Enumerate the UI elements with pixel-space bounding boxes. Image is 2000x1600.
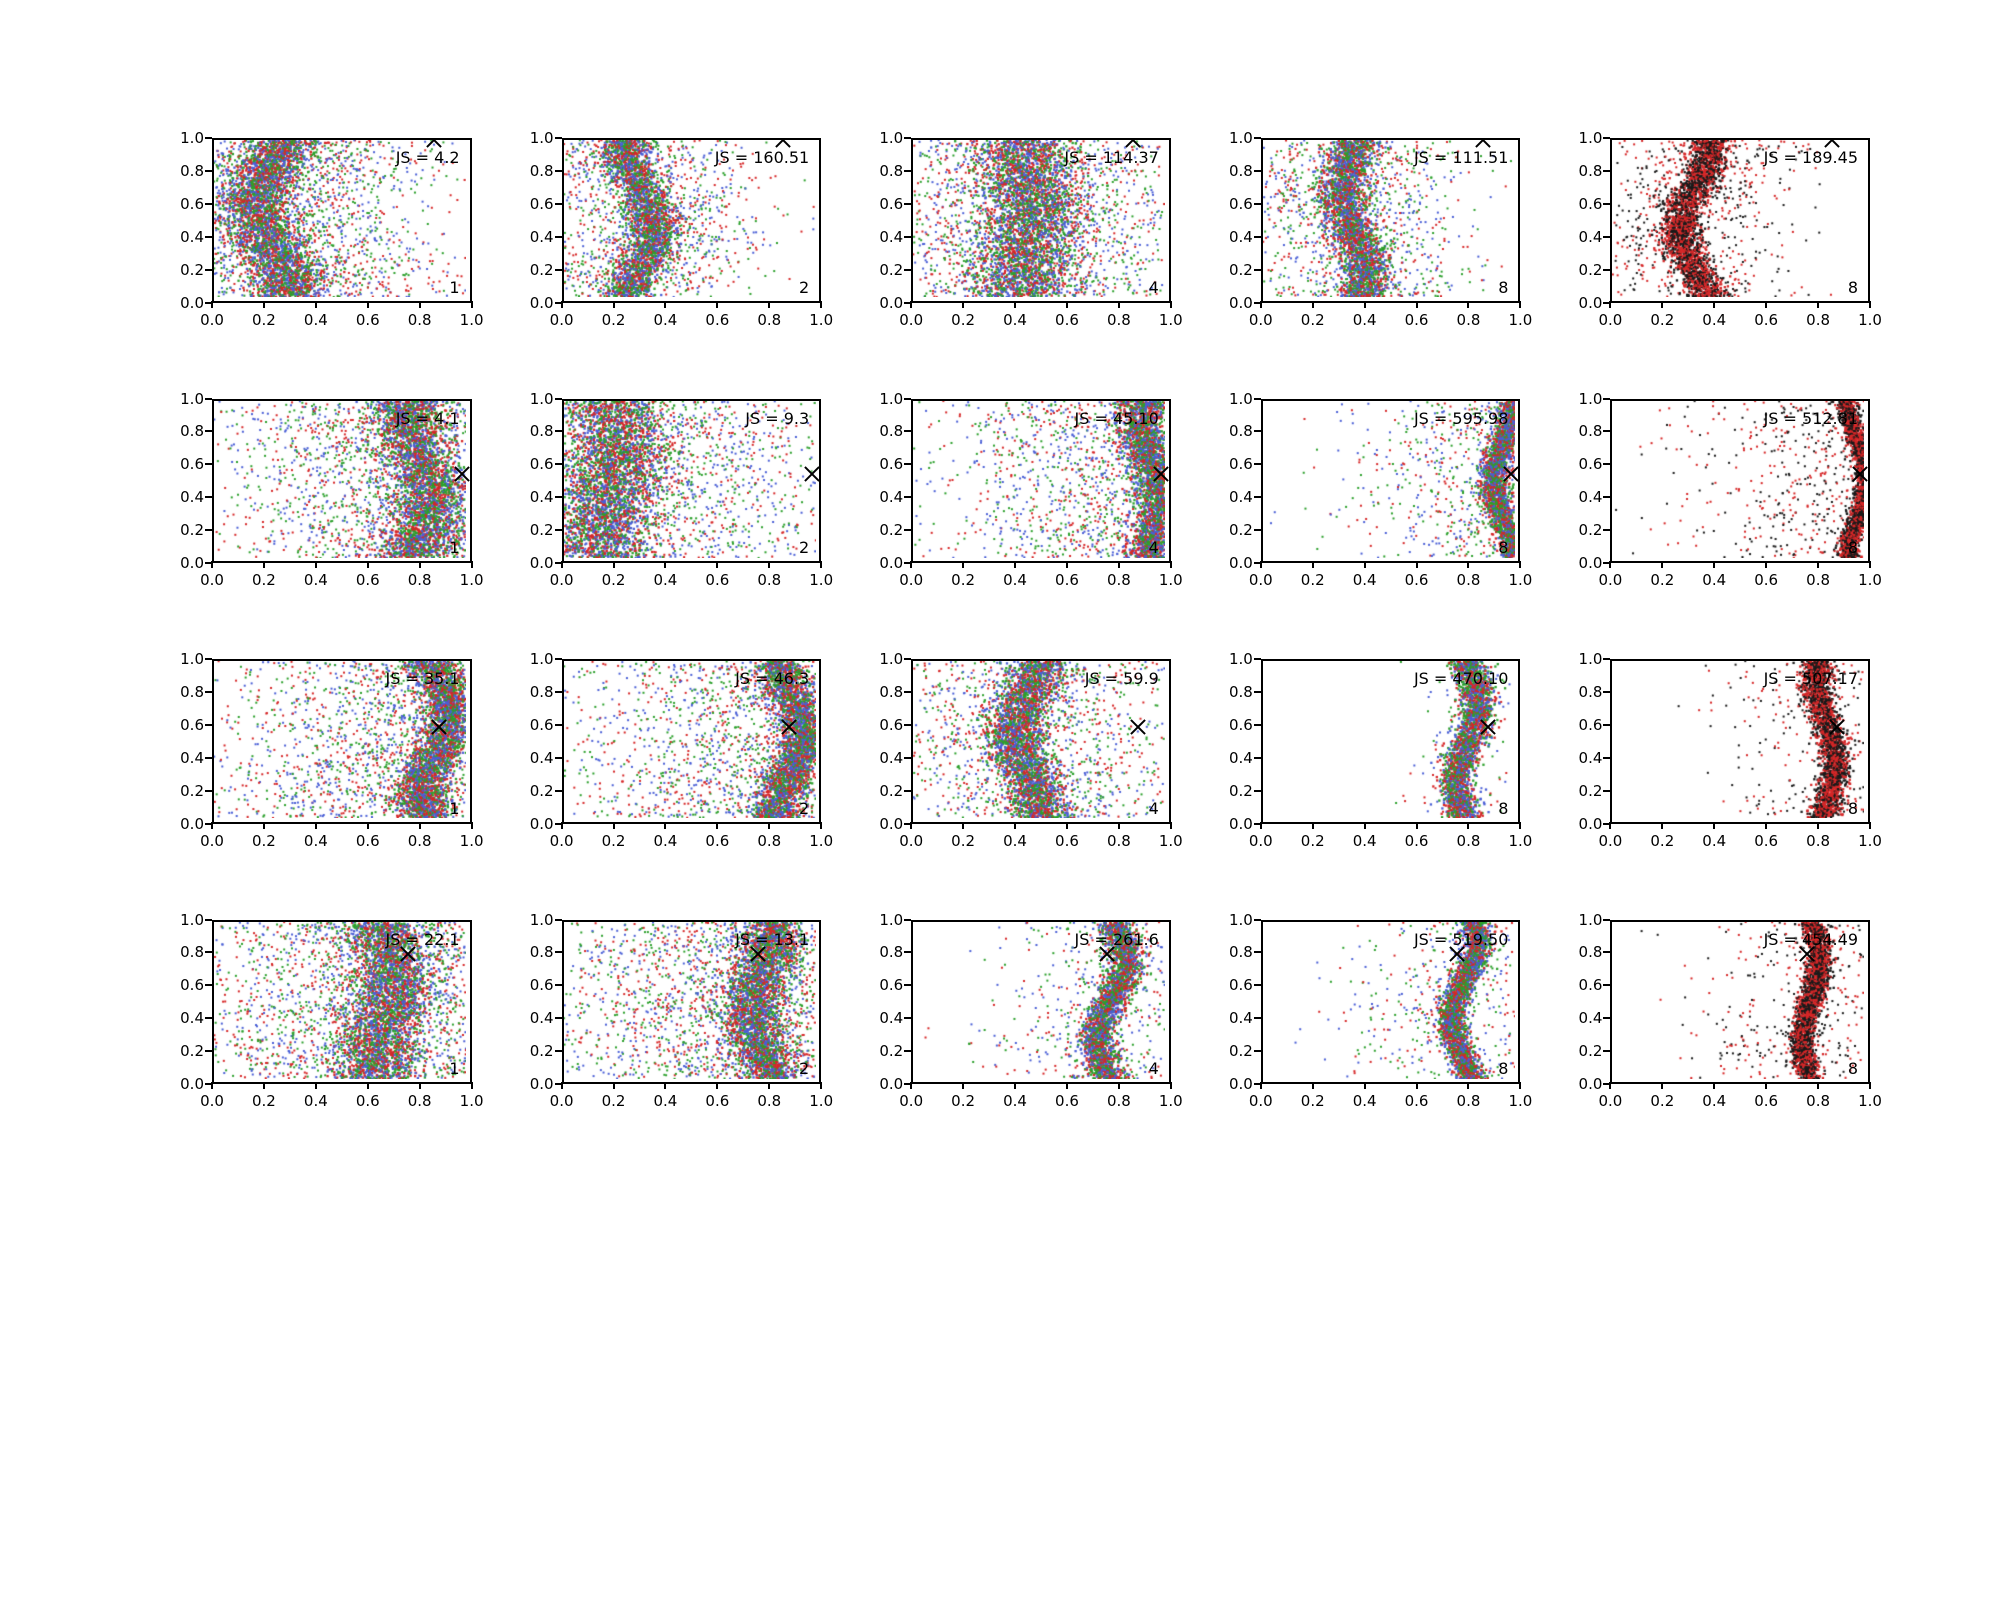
js-value-label: JS = 114.37 xyxy=(1064,148,1158,167)
y-tick-label: 0.4 xyxy=(530,1009,554,1027)
x-axis: 0.00.20.40.60.81.0 xyxy=(911,563,1171,593)
y-tick-mark xyxy=(1603,430,1610,432)
y-tick-mark xyxy=(1603,203,1610,205)
x-tick-label: 0.8 xyxy=(757,1092,781,1110)
x-tick-label: 0.4 xyxy=(1353,832,1377,850)
y-tick-mark xyxy=(1603,1017,1610,1019)
x-tick-label: 0.8 xyxy=(1457,311,1481,329)
x-tick-label: 0.0 xyxy=(1598,571,1622,589)
target-x-marker xyxy=(802,464,822,484)
target-x-marker xyxy=(429,717,449,737)
x-tick-label: 0.0 xyxy=(1249,1092,1273,1110)
scatter-panel[interactable]: JS = 4.21 xyxy=(212,138,472,303)
x-tick-label: 1.0 xyxy=(460,571,484,589)
x-tick-label: 0.6 xyxy=(356,1092,380,1110)
x-tick-label: 0.6 xyxy=(1055,1092,1079,1110)
x-tick-label: 0.8 xyxy=(1457,1092,1481,1110)
js-value-label: JS = 4.1 xyxy=(396,409,460,428)
y-axis: 0.00.20.40.60.81.0 xyxy=(1568,399,1610,564)
y-tick-mark xyxy=(1603,658,1610,660)
y-tick-mark xyxy=(904,137,911,139)
x-tick-label: 0.6 xyxy=(1055,571,1079,589)
y-axis: 0.00.20.40.60.81.0 xyxy=(869,659,911,824)
subplot-cell: 0.00.20.40.60.81.00.00.20.40.60.81.0JS =… xyxy=(520,138,822,357)
subplot-cell: 0.00.20.40.60.81.00.00.20.40.60.81.0JS =… xyxy=(1219,920,1521,1139)
subplot-cell: 0.00.20.40.60.81.00.00.20.40.60.81.0JS =… xyxy=(170,659,472,878)
x-axis: 0.00.20.40.60.81.0 xyxy=(212,824,472,854)
x-tick-label: 0.2 xyxy=(602,571,626,589)
y-axis: 0.00.20.40.60.81.0 xyxy=(520,920,562,1085)
y-tick-mark xyxy=(1603,398,1610,400)
y-tick-label: 1.0 xyxy=(1229,129,1253,147)
scatter-panel[interactable]: JS = 35.11 xyxy=(212,659,472,824)
x-tick-label: 0.0 xyxy=(1598,1092,1622,1110)
y-tick-mark xyxy=(904,170,911,172)
y-tick-label: 0.2 xyxy=(530,1042,554,1060)
y-tick-label: 0.0 xyxy=(879,815,903,833)
y-tick-label: 0.0 xyxy=(1229,815,1253,833)
y-tick-label: 0.8 xyxy=(1229,943,1253,961)
x-tick-label: 0.4 xyxy=(1702,571,1726,589)
y-tick-label: 0.6 xyxy=(879,455,903,473)
x-axis: 0.00.20.40.60.81.0 xyxy=(1261,824,1521,854)
y-tick-mark xyxy=(1254,951,1261,953)
y-tick-label: 0.4 xyxy=(530,488,554,506)
x-axis: 0.00.20.40.60.81.0 xyxy=(911,303,1171,333)
y-tick-label: 1.0 xyxy=(1579,390,1603,408)
target-x-marker xyxy=(398,944,418,964)
y-tick-mark xyxy=(205,529,212,531)
y-axis: 0.00.20.40.60.81.0 xyxy=(170,399,212,564)
target-x-marker xyxy=(779,717,799,737)
y-tick-label: 0.8 xyxy=(180,162,204,180)
y-tick-mark xyxy=(904,529,911,531)
x-tick-label: 1.0 xyxy=(1508,311,1532,329)
y-tick-mark xyxy=(1254,269,1261,271)
x-tick-label: 0.2 xyxy=(1650,832,1674,850)
x-tick-label: 0.0 xyxy=(550,1092,574,1110)
x-tick-label: 0.6 xyxy=(356,832,380,850)
x-tick-label: 0.4 xyxy=(1003,311,1027,329)
y-tick-mark xyxy=(205,398,212,400)
y-tick-label: 1.0 xyxy=(1579,911,1603,929)
subplot-cell: 0.00.20.40.60.81.00.00.20.40.60.81.0JS =… xyxy=(1568,399,1870,618)
scatter-panel[interactable]: JS = 59.94 xyxy=(911,659,1171,824)
y-tick-mark xyxy=(1254,430,1261,432)
x-tick-label: 0.6 xyxy=(1754,832,1778,850)
y-tick-mark xyxy=(904,430,911,432)
x-tick-label: 0.4 xyxy=(653,311,677,329)
x-tick-label: 0.8 xyxy=(1107,571,1131,589)
y-tick-label: 0.8 xyxy=(879,162,903,180)
y-tick-mark xyxy=(904,757,911,759)
scatter-panel[interactable]: JS = 114.374 xyxy=(911,138,1171,303)
x-tick-label: 0.2 xyxy=(1301,832,1325,850)
x-tick-label: 0.6 xyxy=(1754,1092,1778,1110)
y-axis: 0.00.20.40.60.81.0 xyxy=(170,138,212,303)
x-tick-label: 0.6 xyxy=(1754,571,1778,589)
y-tick-label: 0.4 xyxy=(879,488,903,506)
x-tick-label: 0.2 xyxy=(602,832,626,850)
y-tick-label: 0.8 xyxy=(180,683,204,701)
y-axis: 0.00.20.40.60.81.0 xyxy=(1219,138,1261,303)
y-tick-label: 0.8 xyxy=(1229,162,1253,180)
y-tick-mark xyxy=(1603,170,1610,172)
y-tick-label: 0.8 xyxy=(879,943,903,961)
y-tick-mark xyxy=(555,398,562,400)
y-tick-label: 0.2 xyxy=(879,261,903,279)
y-tick-mark xyxy=(1254,1050,1261,1052)
y-tick-label: 0.2 xyxy=(1229,521,1253,539)
scatter-panel[interactable]: JS = 507.178 xyxy=(1610,659,1870,824)
target-x-marker xyxy=(773,138,793,150)
y-tick-mark xyxy=(904,236,911,238)
y-tick-label: 0.4 xyxy=(879,228,903,246)
y-axis: 0.00.20.40.60.81.0 xyxy=(1219,659,1261,824)
x-tick-label: 1.0 xyxy=(460,311,484,329)
x-tick-label: 0.2 xyxy=(252,1092,276,1110)
scatter-panel[interactable]: JS = 13.12 xyxy=(562,920,822,1085)
x-axis: 0.00.20.40.60.81.0 xyxy=(1610,824,1870,854)
y-axis: 0.00.20.40.60.81.0 xyxy=(1568,659,1610,824)
x-tick-label: 0.4 xyxy=(1702,311,1726,329)
subplot-cell: 0.00.20.40.60.81.00.00.20.40.60.81.0JS =… xyxy=(869,920,1171,1139)
x-tick-label: 0.0 xyxy=(899,571,923,589)
scatter-panel[interactable]: JS = 454.498 xyxy=(1610,920,1870,1085)
x-tick-label: 0.4 xyxy=(1702,832,1726,850)
target-x-marker xyxy=(1447,944,1467,964)
js-value-label: JS = 160.51 xyxy=(715,148,809,167)
y-axis: 0.00.20.40.60.81.0 xyxy=(1219,920,1261,1085)
scatter-panel[interactable]: JS = 9.32 xyxy=(562,399,822,564)
target-x-marker xyxy=(1097,944,1117,964)
x-tick-label: 0.4 xyxy=(653,832,677,850)
x-tick-label: 0.8 xyxy=(757,571,781,589)
target-x-marker xyxy=(1473,138,1493,150)
y-tick-label: 0.0 xyxy=(530,554,554,572)
x-tick-label: 0.0 xyxy=(899,311,923,329)
x-tick-label: 0.0 xyxy=(200,1092,224,1110)
y-tick-label: 0.6 xyxy=(530,976,554,994)
y-tick-mark xyxy=(1603,496,1610,498)
y-tick-label: 0.2 xyxy=(1579,521,1603,539)
x-axis: 0.00.20.40.60.81.0 xyxy=(212,1084,472,1114)
target-x-marker xyxy=(1478,717,1498,737)
y-tick-label: 0.2 xyxy=(879,782,903,800)
x-tick-label: 1.0 xyxy=(809,832,833,850)
y-tick-label: 0.0 xyxy=(879,1075,903,1093)
x-tick-label: 1.0 xyxy=(1159,311,1183,329)
y-tick-label: 0.4 xyxy=(1229,488,1253,506)
x-tick-label: 0.2 xyxy=(1650,571,1674,589)
y-tick-mark xyxy=(904,398,911,400)
x-tick-label: 0.4 xyxy=(1353,311,1377,329)
scatter-panel[interactable]: JS = 519.508 xyxy=(1261,920,1521,1085)
x-tick-label: 0.0 xyxy=(899,832,923,850)
scatter-panel[interactable]: JS = 595.988 xyxy=(1261,399,1521,564)
y-tick-mark xyxy=(555,1017,562,1019)
subplot-cell: 0.00.20.40.60.81.00.00.20.40.60.81.0JS =… xyxy=(1568,138,1870,357)
panel-index-label: 2 xyxy=(799,799,809,818)
y-tick-mark xyxy=(904,790,911,792)
x-tick-label: 0.8 xyxy=(1806,832,1830,850)
x-tick-label: 0.6 xyxy=(705,571,729,589)
panel-index-label: 8 xyxy=(1848,278,1858,297)
y-tick-mark xyxy=(205,1050,212,1052)
y-tick-mark xyxy=(205,269,212,271)
y-tick-mark xyxy=(205,790,212,792)
target-x-marker xyxy=(1128,717,1148,737)
x-axis: 0.00.20.40.60.81.0 xyxy=(212,303,472,333)
y-tick-label: 0.4 xyxy=(180,1009,204,1027)
x-axis: 0.00.20.40.60.81.0 xyxy=(562,1084,822,1114)
x-axis: 0.00.20.40.60.81.0 xyxy=(911,1084,1171,1114)
y-tick-label: 1.0 xyxy=(879,911,903,929)
y-tick-label: 0.0 xyxy=(879,554,903,572)
y-tick-label: 0.0 xyxy=(1579,294,1603,312)
x-axis: 0.00.20.40.60.81.0 xyxy=(562,303,822,333)
x-tick-label: 0.0 xyxy=(550,832,574,850)
y-tick-label: 0.2 xyxy=(180,261,204,279)
y-tick-label: 1.0 xyxy=(1579,129,1603,147)
scatter-panel[interactable]: JS = 160.512 xyxy=(562,138,822,303)
y-tick-mark xyxy=(1254,170,1261,172)
x-tick-label: 1.0 xyxy=(809,311,833,329)
x-tick-label: 1.0 xyxy=(809,571,833,589)
scatter-panel[interactable]: JS = 189.458 xyxy=(1610,138,1870,303)
y-tick-mark xyxy=(555,984,562,986)
y-tick-label: 0.4 xyxy=(879,1009,903,1027)
y-tick-label: 0.0 xyxy=(180,815,204,833)
panel-index-label: 8 xyxy=(1848,538,1858,557)
js-value-label: JS = 470.10 xyxy=(1414,669,1508,688)
y-tick-mark xyxy=(1254,203,1261,205)
panel-index-label: 8 xyxy=(1848,1059,1858,1078)
x-axis: 0.00.20.40.60.81.0 xyxy=(1261,563,1521,593)
y-tick-label: 0.2 xyxy=(1229,261,1253,279)
y-axis: 0.00.20.40.60.81.0 xyxy=(520,138,562,303)
y-tick-label: 0.4 xyxy=(530,228,554,246)
target-x-marker xyxy=(748,944,768,964)
y-tick-label: 0.8 xyxy=(1579,162,1603,180)
y-tick-label: 0.2 xyxy=(180,521,204,539)
x-tick-label: 0.8 xyxy=(1806,311,1830,329)
subplot-cell: 0.00.20.40.60.81.00.00.20.40.60.81.0JS =… xyxy=(520,399,822,618)
x-tick-label: 0.4 xyxy=(653,571,677,589)
x-tick-label: 1.0 xyxy=(1508,571,1532,589)
y-tick-mark xyxy=(205,430,212,432)
x-tick-label: 0.4 xyxy=(1353,571,1377,589)
x-tick-label: 1.0 xyxy=(460,1092,484,1110)
x-tick-label: 0.4 xyxy=(1003,1092,1027,1110)
y-tick-label: 0.0 xyxy=(1229,294,1253,312)
x-tick-label: 0.2 xyxy=(602,311,626,329)
x-tick-label: 0.8 xyxy=(408,571,432,589)
y-tick-label: 0.6 xyxy=(530,195,554,213)
panel-index-label: 8 xyxy=(1498,538,1508,557)
y-tick-label: 0.2 xyxy=(180,782,204,800)
x-tick-label: 0.4 xyxy=(1003,832,1027,850)
x-tick-label: 0.8 xyxy=(1107,311,1131,329)
y-tick-label: 1.0 xyxy=(1229,650,1253,668)
y-tick-mark xyxy=(1254,1017,1261,1019)
y-tick-label: 0.8 xyxy=(530,422,554,440)
y-axis: 0.00.20.40.60.81.0 xyxy=(1568,920,1610,1085)
x-tick-label: 0.6 xyxy=(705,1092,729,1110)
x-tick-label: 0.2 xyxy=(252,571,276,589)
y-tick-label: 0.6 xyxy=(180,976,204,994)
y-tick-label: 0.8 xyxy=(879,422,903,440)
subplot-cell: 0.00.20.40.60.81.00.00.20.40.60.81.0JS =… xyxy=(869,659,1171,878)
y-tick-label: 0.4 xyxy=(180,228,204,246)
y-tick-label: 0.8 xyxy=(180,422,204,440)
x-tick-label: 1.0 xyxy=(1159,571,1183,589)
y-tick-label: 0.0 xyxy=(1229,554,1253,572)
x-tick-label: 1.0 xyxy=(1159,1092,1183,1110)
subplot-cell: 0.00.20.40.60.81.00.00.20.40.60.81.0JS =… xyxy=(520,920,822,1139)
y-tick-label: 0.4 xyxy=(1229,1009,1253,1027)
y-tick-mark xyxy=(1603,236,1610,238)
x-tick-label: 1.0 xyxy=(1858,571,1882,589)
y-tick-label: 0.0 xyxy=(879,294,903,312)
js-value-label: JS = 45.10 xyxy=(1075,409,1159,428)
subplot-cell: 0.00.20.40.60.81.00.00.20.40.60.81.0JS =… xyxy=(869,399,1171,618)
js-value-label: JS = 111.51 xyxy=(1414,148,1508,167)
subplot-grid: 0.00.20.40.60.81.00.00.20.40.60.81.0JS =… xyxy=(170,138,1870,1138)
y-tick-label: 0.6 xyxy=(1579,716,1603,734)
x-tick-label: 0.2 xyxy=(252,832,276,850)
scatter-panel[interactable]: JS = 22.11 xyxy=(212,920,472,1085)
y-tick-label: 0.8 xyxy=(1579,683,1603,701)
y-tick-mark xyxy=(1603,790,1610,792)
js-value-label: JS = 13.1 xyxy=(735,930,809,949)
x-axis: 0.00.20.40.60.81.0 xyxy=(911,824,1171,854)
x-tick-label: 0.8 xyxy=(1806,1092,1830,1110)
js-value-label: JS = 9.3 xyxy=(745,409,809,428)
scatter-panel[interactable]: JS = 46.32 xyxy=(562,659,822,824)
y-tick-label: 0.8 xyxy=(1579,943,1603,961)
x-tick-label: 0.6 xyxy=(1754,311,1778,329)
js-value-label: JS = 189.45 xyxy=(1764,148,1858,167)
x-tick-label: 0.6 xyxy=(1405,311,1429,329)
scatter-panel[interactable]: JS = 470.108 xyxy=(1261,659,1521,824)
target-x-marker xyxy=(452,464,472,484)
scatter-panel[interactable]: JS = 111.518 xyxy=(1261,138,1521,303)
y-tick-label: 0.2 xyxy=(530,782,554,800)
y-tick-mark xyxy=(904,691,911,693)
y-tick-mark xyxy=(205,463,212,465)
y-tick-label: 0.0 xyxy=(180,1075,204,1093)
y-axis: 0.00.20.40.60.81.0 xyxy=(1568,138,1610,303)
scatter-panel[interactable]: JS = 4.11 xyxy=(212,399,472,564)
target-x-marker xyxy=(1501,464,1521,484)
y-tick-label: 0.6 xyxy=(180,716,204,734)
y-tick-mark xyxy=(205,496,212,498)
y-tick-label: 0.0 xyxy=(1579,815,1603,833)
y-tick-mark xyxy=(555,757,562,759)
y-tick-label: 0.6 xyxy=(180,455,204,473)
x-tick-label: 0.8 xyxy=(757,832,781,850)
x-tick-label: 0.8 xyxy=(408,311,432,329)
x-tick-label: 1.0 xyxy=(1858,832,1882,850)
y-tick-mark xyxy=(904,203,911,205)
y-tick-label: 0.8 xyxy=(180,943,204,961)
x-tick-label: 1.0 xyxy=(460,832,484,850)
y-tick-mark xyxy=(1603,463,1610,465)
y-tick-label: 0.4 xyxy=(1579,488,1603,506)
y-tick-label: 0.0 xyxy=(1579,554,1603,572)
x-tick-label: 0.2 xyxy=(951,571,975,589)
x-tick-label: 0.4 xyxy=(304,1092,328,1110)
subplot-cell: 0.00.20.40.60.81.00.00.20.40.60.81.0JS =… xyxy=(1568,920,1870,1139)
y-tick-mark xyxy=(904,1017,911,1019)
x-tick-label: 1.0 xyxy=(1858,1092,1882,1110)
js-value-label: JS = 22.1 xyxy=(386,930,460,949)
x-tick-label: 0.0 xyxy=(200,832,224,850)
y-tick-label: 0.4 xyxy=(180,488,204,506)
y-tick-label: 0.4 xyxy=(530,749,554,767)
y-tick-mark xyxy=(904,1050,911,1052)
y-tick-label: 0.6 xyxy=(1229,976,1253,994)
y-tick-mark xyxy=(1254,137,1261,139)
x-tick-label: 0.2 xyxy=(252,311,276,329)
y-tick-label: 1.0 xyxy=(530,650,554,668)
y-tick-mark xyxy=(555,203,562,205)
x-tick-label: 0.2 xyxy=(951,832,975,850)
y-tick-mark xyxy=(555,1050,562,1052)
y-tick-mark xyxy=(555,951,562,953)
panel-index-label: 4 xyxy=(1149,1059,1159,1078)
y-tick-label: 0.2 xyxy=(1229,782,1253,800)
y-tick-label: 0.6 xyxy=(1229,455,1253,473)
x-axis: 0.00.20.40.60.81.0 xyxy=(1610,1084,1870,1114)
x-tick-label: 0.0 xyxy=(1249,311,1273,329)
y-tick-mark xyxy=(555,430,562,432)
y-tick-mark xyxy=(1603,269,1610,271)
y-axis: 0.00.20.40.60.81.0 xyxy=(520,659,562,824)
y-tick-label: 0.6 xyxy=(1579,976,1603,994)
x-tick-label: 0.4 xyxy=(304,311,328,329)
x-tick-label: 0.6 xyxy=(356,311,380,329)
x-tick-label: 0.2 xyxy=(951,311,975,329)
x-tick-label: 0.6 xyxy=(1055,832,1079,850)
x-axis: 0.00.20.40.60.81.0 xyxy=(1610,563,1870,593)
panel-index-label: 1 xyxy=(449,799,459,818)
x-tick-label: 0.0 xyxy=(1598,832,1622,850)
target-x-marker xyxy=(1822,138,1842,150)
figure-canvas: 0.00.20.40.60.81.00.00.20.40.60.81.0JS =… xyxy=(0,0,2000,1600)
y-tick-label: 1.0 xyxy=(530,129,554,147)
y-tick-mark xyxy=(1254,529,1261,531)
y-tick-label: 0.8 xyxy=(1579,422,1603,440)
y-tick-mark xyxy=(1603,724,1610,726)
panel-index-label: 8 xyxy=(1498,799,1508,818)
x-tick-label: 0.4 xyxy=(653,1092,677,1110)
scatter-panel[interactable]: JS = 45.104 xyxy=(911,399,1171,564)
x-tick-label: 0.4 xyxy=(1702,1092,1726,1110)
y-tick-mark xyxy=(555,269,562,271)
subplot-cell: 0.00.20.40.60.81.00.00.20.40.60.81.0JS =… xyxy=(170,399,472,618)
y-tick-label: 0.6 xyxy=(1229,195,1253,213)
js-value-label: JS = 59.9 xyxy=(1085,669,1159,688)
x-tick-label: 0.4 xyxy=(304,832,328,850)
y-tick-label: 0.0 xyxy=(180,294,204,312)
panel-index-label: 2 xyxy=(799,278,809,297)
y-tick-mark xyxy=(205,724,212,726)
scatter-panel[interactable]: JS = 261.64 xyxy=(911,920,1171,1085)
scatter-panel[interactable]: JS = 512.818 xyxy=(1610,399,1870,564)
y-tick-label: 0.8 xyxy=(1229,683,1253,701)
